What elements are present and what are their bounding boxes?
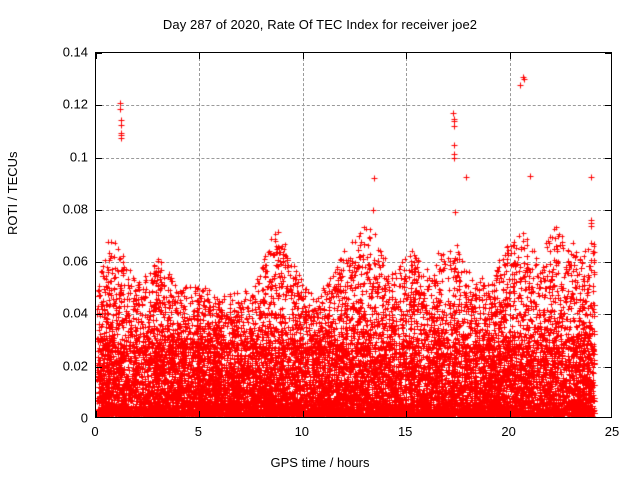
y-tick-mark xyxy=(605,105,611,106)
y-tick-mark xyxy=(96,314,102,315)
y-tick-mark xyxy=(96,158,102,159)
x-tick-mark xyxy=(510,411,511,417)
y-tick-mark xyxy=(96,210,102,211)
x-tick-mark xyxy=(406,53,407,59)
x-tick-label: 5 xyxy=(178,424,218,439)
x-tick-mark xyxy=(406,411,407,417)
x-axis-title: GPS time / hours xyxy=(0,455,640,470)
chart-title: Day 287 of 2020, Rate Of TEC Index for r… xyxy=(0,17,640,32)
x-tick-label: 10 xyxy=(282,424,322,439)
y-tick-mark xyxy=(605,367,611,368)
y-tick-mark xyxy=(96,105,102,106)
x-tick-mark xyxy=(303,411,304,417)
chart-page: Day 287 of 2020, Rate Of TEC Index for r… xyxy=(0,0,640,480)
x-tick-label: 20 xyxy=(489,424,529,439)
y-tick-label: 0.14 xyxy=(28,45,88,60)
y-tick-mark xyxy=(96,367,102,368)
y-tick-label: 0.08 xyxy=(28,201,88,216)
x-tick-mark xyxy=(199,411,200,417)
y-tick-mark xyxy=(605,314,611,315)
y-tick-mark xyxy=(605,158,611,159)
y-tick-mark xyxy=(605,262,611,263)
y-tick-label: 0.12 xyxy=(28,97,88,112)
x-tick-label: 0 xyxy=(75,424,115,439)
x-tick-mark xyxy=(96,53,97,59)
x-tick-label: 15 xyxy=(385,424,425,439)
x-tick-mark xyxy=(510,53,511,59)
plot-area xyxy=(95,52,612,418)
y-axis-title: ROTI / TECUs xyxy=(5,151,20,235)
x-tick-mark xyxy=(303,53,304,59)
x-tick-label: 25 xyxy=(592,424,632,439)
y-tick-mark xyxy=(605,210,611,211)
axis-ticks-layer xyxy=(96,53,611,417)
y-tick-label: 0.1 xyxy=(28,149,88,164)
y-tick-mark xyxy=(96,262,102,263)
y-tick-label: 0.04 xyxy=(28,306,88,321)
x-tick-mark xyxy=(199,53,200,59)
x-tick-mark xyxy=(96,411,97,417)
y-tick-mark xyxy=(605,53,611,54)
y-tick-label: 0.06 xyxy=(28,254,88,269)
y-tick-label: 0.02 xyxy=(28,358,88,373)
